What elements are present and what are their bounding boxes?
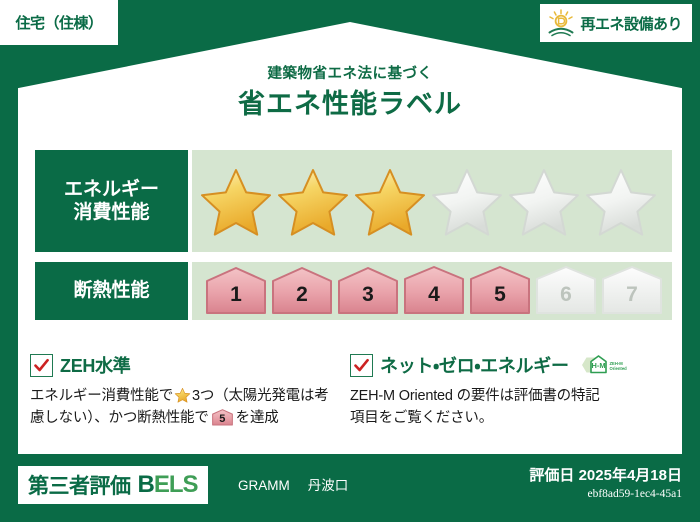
owner-name: GRAMM [238,478,290,493]
house-grade-icon-inline: 5 [211,409,234,426]
star-icon-empty-4 [429,164,505,238]
owner-info: GRAMM丹波口 [238,474,348,494]
evaluation-info: 評価日 2025年4月18日 ebf8ad59-1ec4-45a1 [529,464,682,500]
energy-performance-row: エネルギー 消費性能 [35,150,672,252]
insulation-grade-7-number: 7 [600,266,664,316]
criterion-zeh-title: ZEH水準 [60,352,131,378]
building-category-tag: 住宅（住棟） [0,0,118,45]
star-icon-filled-2 [275,164,351,238]
criterion-nze-body: ZEH-M Oriented の要件は評価書の特記 項目をご覧ください。 [350,385,662,430]
energy-rating-panel [192,150,672,252]
insulation-grade-6-number: 6 [534,266,598,316]
insulation-grade-1: 1 [204,266,268,316]
insulation-grade-3: 3 [336,266,400,316]
label-subtitle: 建築物省エネ法に基づく [0,62,700,83]
criterion-zeh-header: ZEH水準 [30,352,342,378]
insulation-label-line1: 断熱性能 [73,279,149,302]
energy-performance-label: 住宅（住棟） 再エネ設備あり 建築物省エネ法に基づく 省エネ性能ラベル エネルギ… [0,0,700,522]
evaluation-date-value: 2025年4月18日 [579,467,682,484]
insulation-grade-2: 2 [270,266,334,316]
evaluation-date-line: 評価日 2025年4月18日 [529,464,682,485]
insulation-grade-3-number: 3 [336,266,400,316]
insulation-performance-label-box: 断熱性能 [35,262,188,320]
bels-logo-els: ELS [154,471,198,498]
energy-performance-label-box: エネルギー 消費性能 [35,150,188,252]
criteria-section: ZEH水準 エネルギー消費性能で3つ（太陽光発電は考慮しない）、かつ断熱性能で5… [30,352,670,447]
insulation-grade-scale: 1 2 3 4 [198,266,664,316]
bels-logo-b: B [138,471,154,498]
criterion-nze-body-suffix: 項目をご覧ください。 [350,410,493,426]
insulation-grade-2-number: 2 [270,266,334,316]
label-footer: 第三者評価 BELS GRAMM丹波口 評価日 2025年4月18日 ebf8a… [0,454,700,522]
owner-site: 丹波口 [308,478,349,493]
svg-text:Oriented: Oriented [609,366,627,371]
criterion-zeh-body-suffix: を達成 [236,410,279,426]
criterion-net-zero-energy: ネット・ゼロ・エネルギー H-M ZEH-M Oriented ZEH-M Or… [350,352,670,447]
star-icon-inline [174,387,191,403]
energy-label-line2: 消費性能 [73,201,149,224]
check-icon [33,357,50,374]
star-icon-filled-1 [198,164,274,238]
nze-checkbox [350,354,373,377]
bels-third-party-text: 第三者評価 [28,470,131,500]
insulation-grade-5-number: 5 [468,266,532,316]
criterion-zeh-standard: ZEH水準 エネルギー消費性能で3つ（太陽光発電は考慮しない）、かつ断熱性能で5… [30,352,350,447]
bels-badge: 第三者評価 BELS [18,466,208,504]
energy-label-line1: エネルギー [64,178,159,201]
evaluation-id: ebf8ad59-1ec4-45a1 [529,488,682,500]
page-title: 省エネ性能ラベル [0,82,700,121]
insulation-grade-4-number: 4 [402,266,466,316]
building-category-text: 住宅（住棟） [15,12,102,33]
insulation-rating-panel: 1 2 3 4 [192,262,672,320]
solar-sun-icon [546,9,576,37]
evaluation-date-label: 評価日 [529,467,574,484]
criterion-nze-title: ネット・ゼロ・エネルギー [380,352,569,378]
svg-text:H-M: H-M [591,361,605,370]
insulation-grade-4: 4 [402,266,466,316]
criterion-zeh-body-prefix: エネルギー消費性能で [30,388,173,404]
insulation-grade-7: 7 [600,266,664,316]
star-rating [198,164,659,238]
insulation-grade-6: 6 [534,266,598,316]
star-icon-filled-3 [352,164,428,238]
zeh-checkbox [30,354,53,377]
insulation-grade-5: 5 [468,266,532,316]
criterion-nze-body-prefix: ZEH-M Oriented の要件は評価書の特記 [350,388,600,404]
renewable-energy-tag: 再エネ設備あり [540,4,692,42]
insulation-grade-1-number: 1 [204,266,268,316]
criterion-nze-header: ネット・ゼロ・エネルギー H-M ZEH-M Oriented [350,352,662,378]
renewable-energy-text: 再エネ設備あり [580,13,682,34]
criterion-zeh-inline-grade-number: 5 [211,409,234,426]
check-icon [353,357,370,374]
star-icon-empty-6 [583,164,659,238]
criterion-zeh-body: エネルギー消費性能で3つ（太陽光発電は考慮しない）、かつ断熱性能で5を達成 [30,385,342,430]
insulation-performance-row: 断熱性能 [35,262,672,320]
zeh-m-oriented-logo: H-M ZEH-M Oriented [578,352,630,378]
star-icon-empty-5 [506,164,582,238]
bels-logo: BELS [138,471,198,499]
